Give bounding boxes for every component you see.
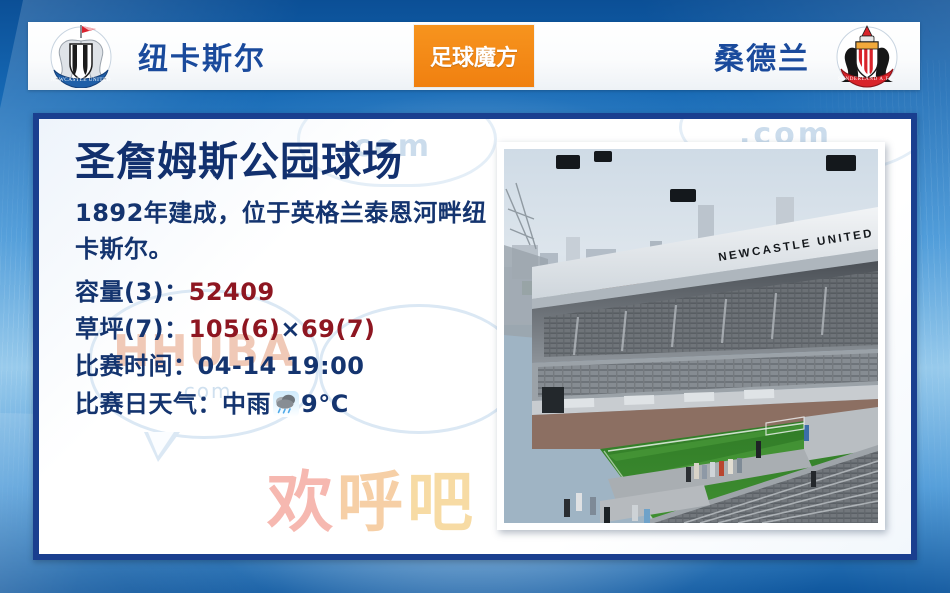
pitch-width: 69(7) (301, 311, 376, 348)
stat-row-pitch: 草坪(7)： 105(6) × 69(7) (75, 311, 495, 348)
site-logo-text: 足球魔方 (430, 40, 518, 72)
watermark-brand: 欢呼吧 (267, 449, 477, 545)
pitch-separator: × (280, 311, 301, 348)
stat-row-weather: 比赛日天气： 中雨 9°C (75, 386, 495, 423)
sunderland-crest: SUNDERLAND A.F.C. (836, 24, 898, 88)
away-team-block[interactable]: 桑德兰 SUNDERLAND A.F.C. (714, 24, 898, 88)
capacity-label: 容量(3)： (75, 274, 189, 311)
svg-text:SUNDERLAND A.F.C.: SUNDERLAND A.F.C. (838, 77, 896, 82)
watermark-brand-char-3: 吧 (407, 464, 477, 541)
pitch-length: 105(6) (189, 311, 281, 348)
stadium-description: 1892年建成，位于英格兰泰恩河畔纽卡斯尔。 (75, 195, 495, 268)
stadium-info-panel: .com .com HHUBA .com 欢呼吧 圣詹姆斯公园球场 1892年建… (33, 113, 917, 560)
weather-temperature: 9°C (301, 386, 349, 423)
stadium-title: 圣詹姆斯公园球场 (75, 141, 495, 183)
weather-condition: 中雨 (222, 386, 271, 423)
svg-text:NEWCASTLE UNITED: NEWCASTLE UNITED (51, 77, 111, 83)
rain-cloud-icon (273, 391, 299, 417)
capacity-value: 52409 (189, 274, 275, 311)
watermark-brand-char-1: 欢 (267, 464, 337, 541)
newcastle-united-crest: NEWCASTLE UNITED (50, 24, 112, 88)
kickoff-label: 比赛时间： (75, 348, 198, 385)
st-james-park-stadium-photo: NEWCASTLE UNITED (504, 149, 878, 523)
match-header-bar: NEWCASTLE UNITED 纽卡斯尔 足球魔方 桑德兰 (28, 22, 920, 90)
stadium-info-block: 圣詹姆斯公园球场 1892年建成，位于英格兰泰恩河畔纽卡斯尔。 容量(3)： 5… (75, 141, 495, 423)
watermark-bubble-tail-inner (148, 432, 174, 456)
pitch-label: 草坪(7)： (75, 311, 189, 348)
home-team-name: 纽卡斯尔 (138, 34, 266, 78)
stat-row-capacity: 容量(3)： 52409 (75, 274, 495, 311)
watermark-bubble-tail (144, 432, 180, 462)
away-team-name: 桑德兰 (714, 34, 810, 78)
weather-label: 比赛日天气： (75, 386, 222, 423)
home-team-block[interactable]: NEWCASTLE UNITED 纽卡斯尔 (50, 24, 266, 88)
site-logo[interactable]: 足球魔方 (414, 25, 534, 87)
stadium-photo-frame: NEWCASTLE UNITED (497, 142, 885, 530)
stat-row-kickoff: 比赛时间： 04-14 19:00 (75, 348, 495, 385)
watermark-brand-char-2: 呼 (337, 464, 407, 541)
kickoff-value: 04-14 19:00 (198, 348, 365, 385)
